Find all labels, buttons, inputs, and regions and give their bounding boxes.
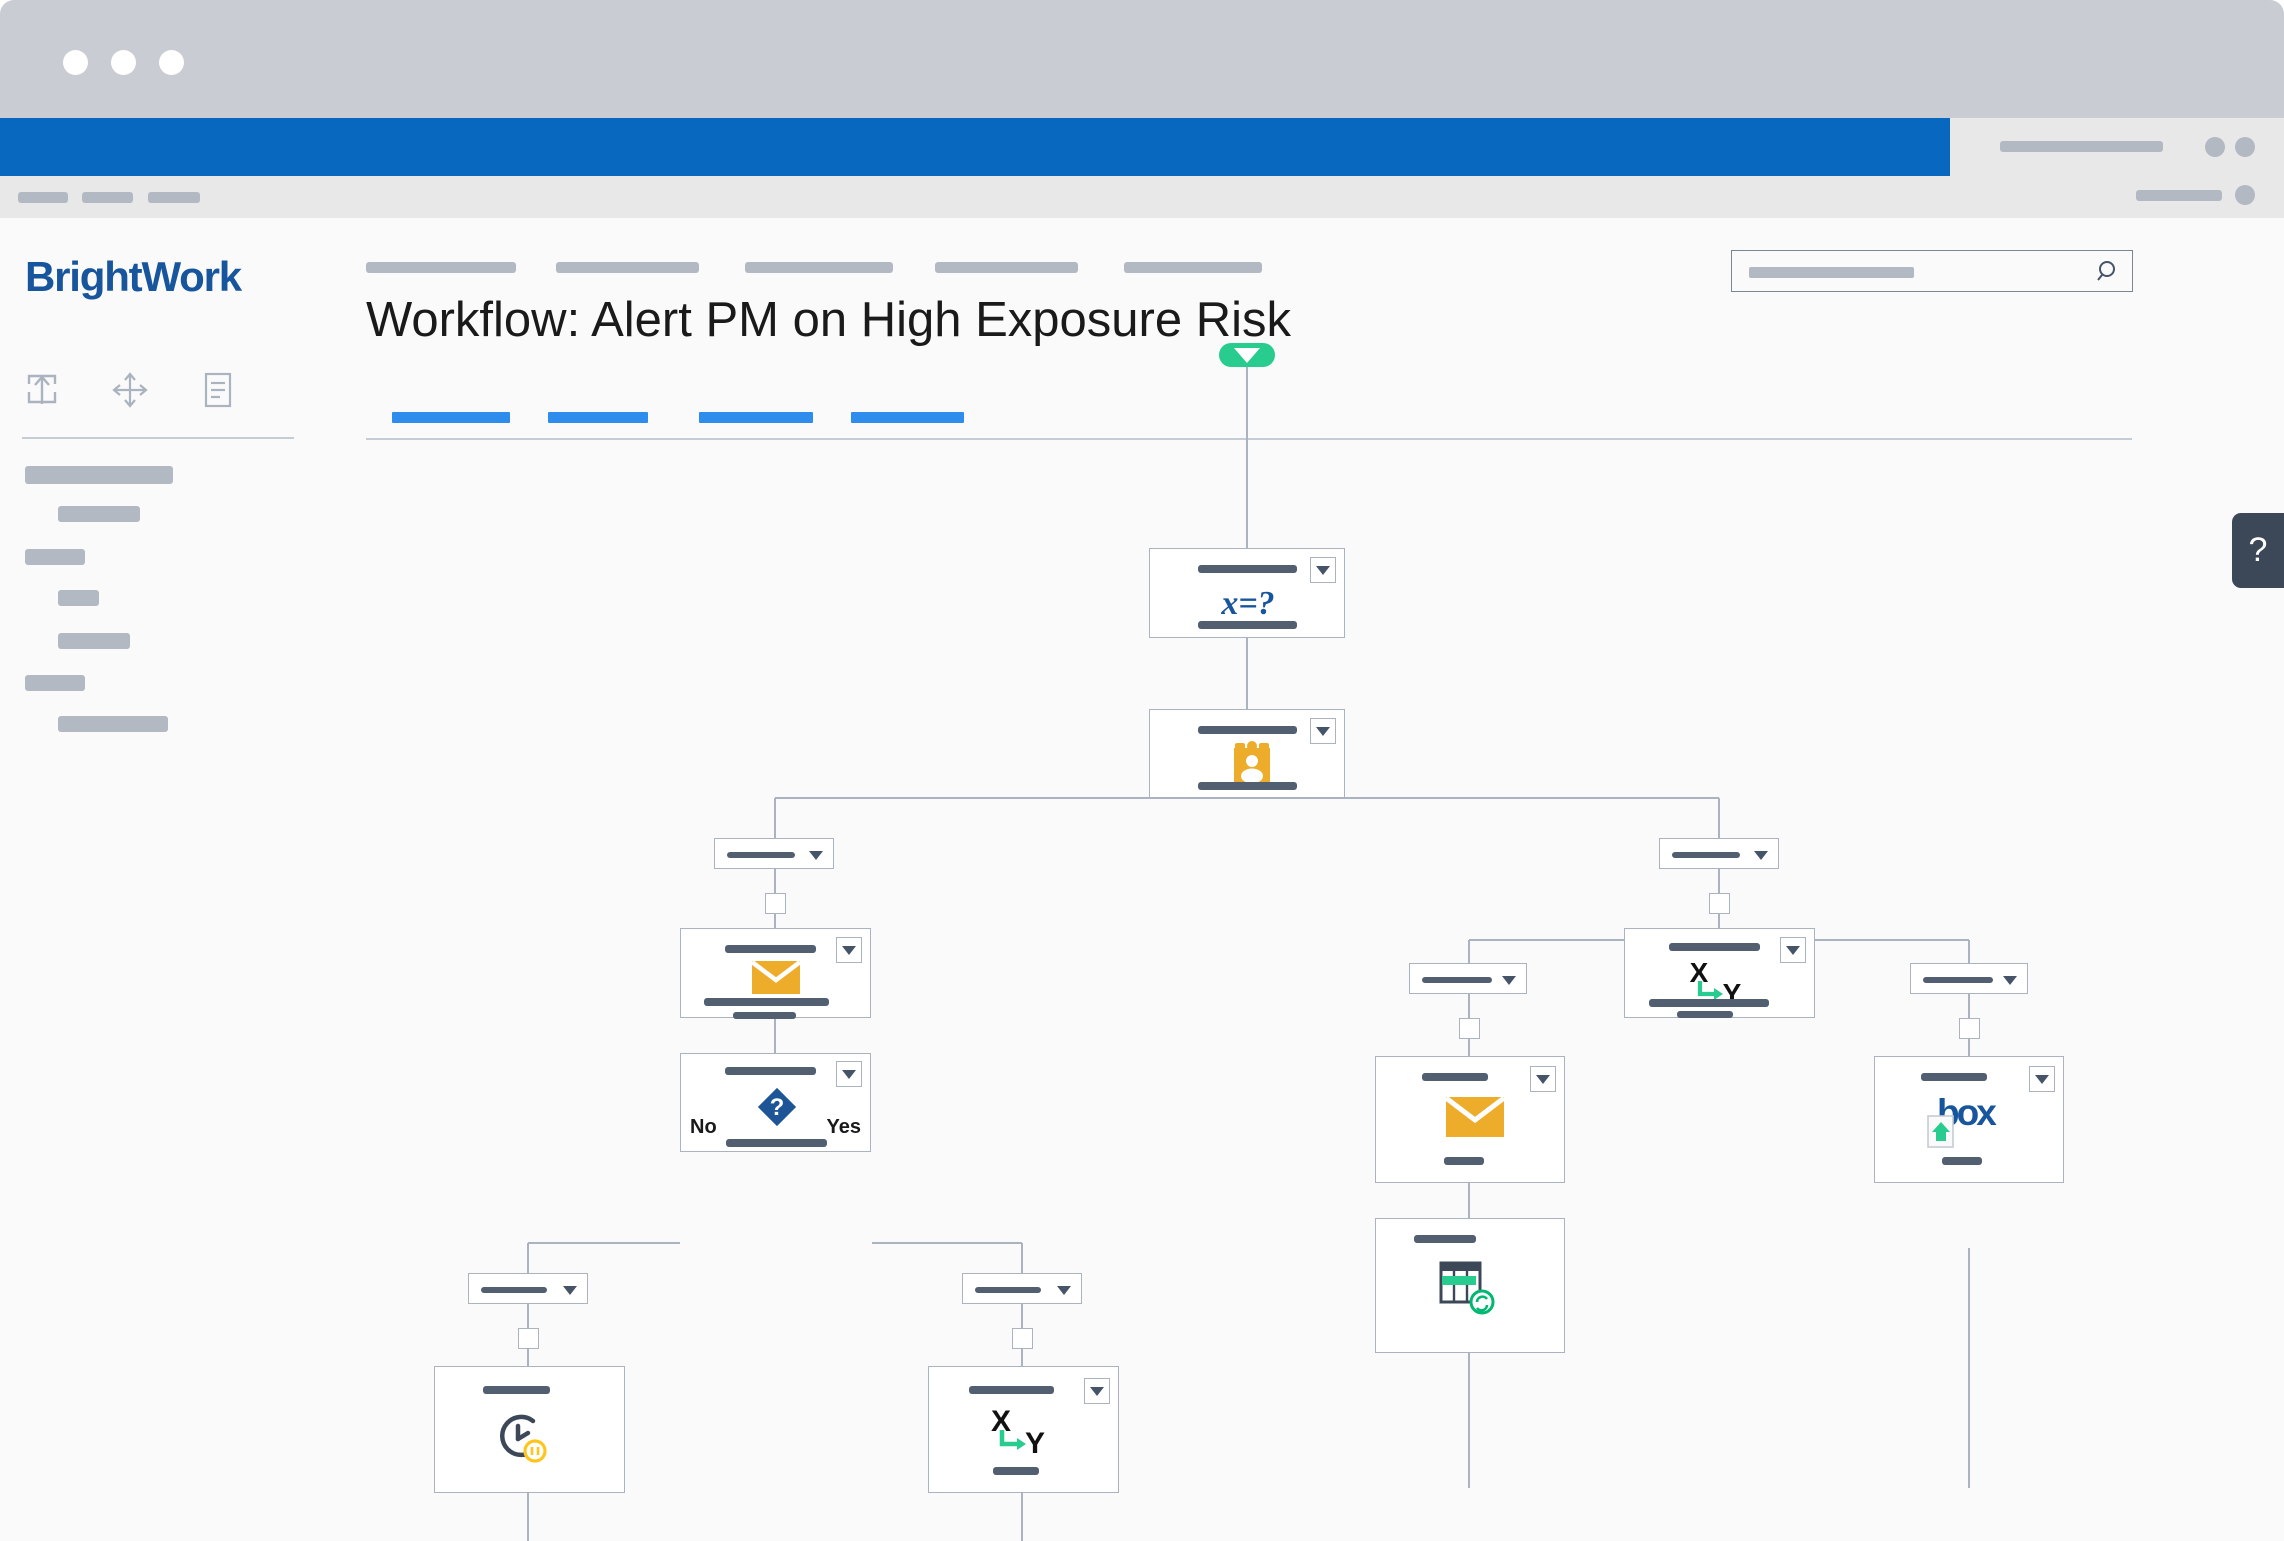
svg-text:?: ? [770,1094,785,1121]
workflow-start-trigger[interactable] [1219,343,1275,367]
ribbon-tab-1[interactable] [18,192,68,203]
browser-toolbar-band [0,176,2284,218]
node-title-placeholder [725,1067,816,1075]
node-title-placeholder [725,945,816,953]
node-subfooter-placeholder [733,1012,796,1019]
connector-dropdown-right[interactable] [1659,838,1779,869]
suitebar-help-icon[interactable] [2235,137,2255,157]
workflow-node-set-variable-2[interactable]: X Y [1624,928,1815,1018]
workflow-node-box-upload[interactable]: box [1874,1056,2064,1183]
suitebar-avatar[interactable] [2235,185,2255,205]
workflow-canvas[interactable]: x=? [0,218,2284,1541]
connector-label-placeholder [1923,977,1993,983]
chevron-down-icon [809,851,823,860]
connector-dropdown-left[interactable] [714,838,834,869]
workflow-node-variable[interactable]: x=? [1149,548,1345,638]
connector-label-placeholder [975,1287,1041,1293]
suitebar-user-name-placeholder[interactable] [2136,190,2222,201]
connector-node-marker[interactable] [1012,1328,1033,1349]
node-menu-caret-icon[interactable] [836,937,862,963]
window-minimize-button[interactable] [111,50,136,75]
node-footer-placeholder [1942,1157,1982,1165]
node-title-placeholder [1921,1073,1987,1081]
node-footer-placeholder [1198,621,1297,629]
node-title-placeholder [1422,1073,1488,1081]
window-maximize-button[interactable] [159,50,184,75]
chevron-down-icon [2003,976,2017,985]
node-footer-placeholder [1649,999,1769,1007]
node-menu-caret-icon[interactable] [1310,557,1336,583]
screenshot-root: BrightWork [0,0,2284,1541]
suite-bar-right-region [1950,118,2284,218]
connector-dropdown-yes[interactable] [962,1273,1082,1304]
connector-node-marker[interactable] [518,1328,539,1349]
connector-node-marker[interactable] [1959,1018,1980,1039]
connector-dropdown-right-mid[interactable] [1409,963,1527,994]
chevron-down-icon [1754,851,1768,860]
node-title-placeholder [1414,1235,1476,1243]
node-footer-placeholder [1444,1157,1484,1165]
node-title-placeholder [483,1386,550,1394]
node-footer-placeholder [1198,782,1297,790]
connector-label-placeholder [1422,977,1492,983]
workflow-node-set-variable-1[interactable]: X Y [928,1366,1119,1493]
workflow-node-condition[interactable]: ? No Yes [680,1053,871,1152]
connector-label-placeholder [481,1287,547,1293]
node-title-placeholder [1198,726,1297,734]
connector-label-placeholder [1672,852,1740,858]
node-menu-caret-icon[interactable] [836,1061,862,1087]
svg-text:Y: Y [1025,1427,1045,1457]
node-menu-caret-icon[interactable] [1084,1378,1110,1404]
workflow-node-spreadsheet-sync[interactable] [1375,1218,1565,1353]
node-title-placeholder [1198,565,1297,573]
chevron-down-icon [1234,348,1260,363]
window-close-button[interactable] [63,50,88,75]
connector-label-placeholder [727,852,795,858]
node-menu-caret-icon[interactable] [1310,718,1336,744]
workflow-node-email-1[interactable] [680,928,871,1018]
connector-node-marker[interactable] [1709,893,1730,914]
suite-bar [0,118,1950,176]
ribbon-tab-2[interactable] [82,192,133,203]
node-menu-caret-icon[interactable] [1530,1066,1556,1092]
ribbon-tab-3[interactable] [148,192,200,203]
node-title-placeholder [1669,943,1760,951]
chevron-down-icon [1502,976,1516,985]
node-menu-caret-icon[interactable] [1780,937,1806,963]
chevron-down-icon [1057,1286,1071,1295]
branch-label-yes: Yes [827,1116,861,1139]
node-title-placeholder [969,1386,1054,1394]
branch-label-no: No [690,1116,717,1139]
connector-node-marker[interactable] [765,893,786,914]
variable-label: x=? [1150,585,1346,623]
chevron-down-icon [563,1286,577,1295]
workflow-node-wait[interactable] [434,1366,625,1493]
node-footer-placeholder [726,1139,827,1147]
node-menu-caret-icon[interactable] [2029,1066,2055,1092]
workflow-node-email-2[interactable] [1375,1056,1565,1183]
node-footer-placeholder [993,1467,1039,1475]
node-subfooter-placeholder [1677,1011,1733,1018]
node-footer-placeholder [704,998,829,1006]
suitebar-settings-icon[interactable] [2205,137,2225,157]
connector-dropdown-far-right[interactable] [1910,963,2028,994]
workflow-node-assign-person[interactable] [1149,709,1345,798]
browser-titlebar [0,0,2284,118]
connector-node-marker[interactable] [1459,1018,1480,1039]
connector-dropdown-no[interactable] [468,1273,588,1304]
workflow-connectors [0,218,2284,1541]
suitebar-link-placeholder[interactable] [2000,141,2163,152]
